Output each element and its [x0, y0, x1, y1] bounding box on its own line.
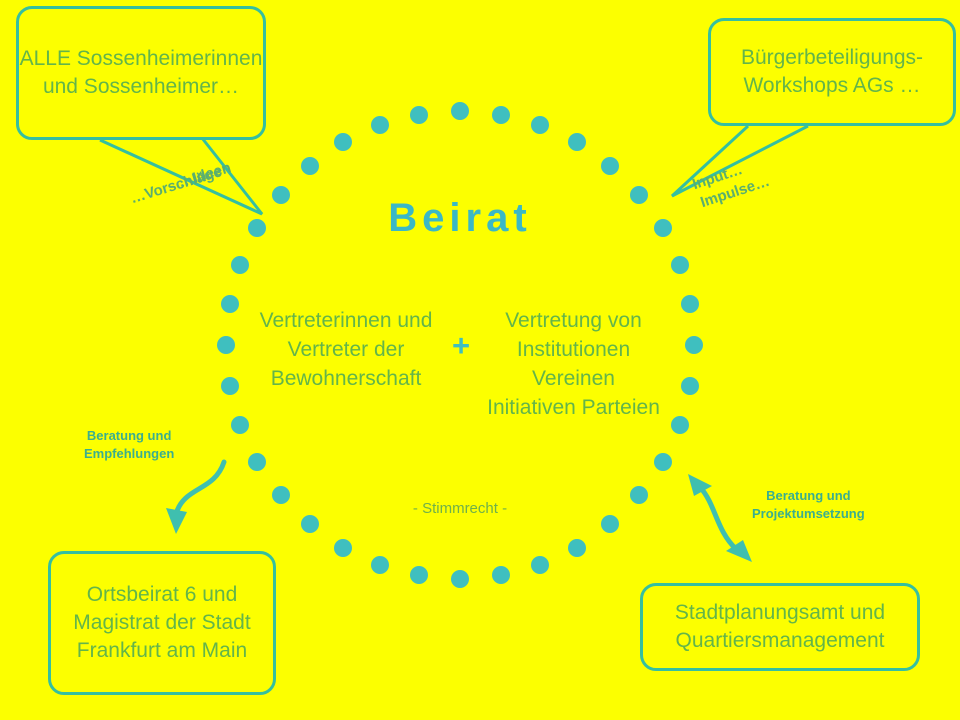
- ring-dot: [410, 566, 428, 584]
- ring-dot: [568, 133, 586, 151]
- label-vorschlaege: …Vorschläge: [128, 162, 224, 208]
- ring-dot: [568, 539, 586, 557]
- bubble-alle-sossenheimer-text: ALLE Sossenheimerinnen und Sossenheimer…: [19, 45, 263, 101]
- ring-dot: [681, 295, 699, 313]
- center-footnote: - Stimmrecht -: [340, 500, 580, 517]
- label-beratung-empfehlungen: Beratung und Empfehlungen: [84, 427, 174, 462]
- ring-dot: [217, 336, 235, 354]
- ring-dot: [231, 416, 249, 434]
- plus-icon: +: [443, 330, 479, 361]
- ring-dot: [221, 295, 239, 313]
- bubble-alle-sossenheimer[interactable]: ALLE Sossenheimerinnen und Sossenheimer…: [16, 6, 266, 140]
- label-beratung-projektumsetzung-line1: Beratung und: [752, 487, 865, 505]
- label-beratung-projektumsetzung-line2: Projektumsetzung: [752, 505, 865, 523]
- ring-dot: [334, 133, 352, 151]
- box-stadtplanungsamt-quartiersmanagement[interactable]: Stadtplanungsamt und Quartiersmanagement: [640, 583, 920, 671]
- ring-dot: [272, 486, 290, 504]
- ring-dot: [371, 116, 389, 134]
- arrow-beratung-projektumsetzung: [688, 474, 752, 562]
- ring-dot: [601, 515, 619, 533]
- ring-dot: [531, 556, 549, 574]
- ring-dot: [671, 416, 689, 434]
- box-ortsbeirat-magistrat[interactable]: Ortsbeirat 6 und Magistrat der Stadt Fra…: [48, 551, 276, 695]
- label-beratung-empfehlungen-line2: Empfehlungen: [84, 445, 174, 463]
- arrow-beratung-empfehlungen: [166, 462, 224, 534]
- ring-dot: [371, 556, 389, 574]
- page-title: Beirat: [260, 196, 660, 240]
- box-ortsbeirat-text: Ortsbeirat 6 und Magistrat der Stadt Fra…: [51, 581, 273, 665]
- center-column-right: Vertretung von Institutionen Vereinen In…: [486, 307, 661, 423]
- bubble-buergerbeteiligungs-workshops[interactable]: Bürgerbeteiligungs- Workshops AGs …: [708, 18, 956, 126]
- ring-dot: [301, 157, 319, 175]
- ring-dot: [601, 157, 619, 175]
- label-beratung-empfehlungen-line1: Beratung und: [84, 427, 174, 445]
- ring-dot: [492, 566, 510, 584]
- ring-dot: [334, 539, 352, 557]
- bubble-workshops-text: Bürgerbeteiligungs- Workshops AGs …: [711, 44, 953, 100]
- ring-dot: [231, 256, 249, 274]
- center-column-left: Vertreterinnen und Vertreter der Bewohne…: [256, 307, 436, 394]
- ring-dot: [410, 106, 428, 124]
- label-beratung-projektumsetzung: Beratung und Projektumsetzung: [752, 487, 865, 522]
- box-stadtplanung-text: Stadtplanungsamt und Quartiersmanagement: [643, 599, 917, 655]
- ring-dot: [248, 453, 266, 471]
- ring-dot: [654, 453, 672, 471]
- ring-dot: [492, 106, 510, 124]
- slide-canvas: ALLE Sossenheimerinnen und Sossenheimer……: [0, 0, 960, 720]
- ring-dot: [301, 515, 319, 533]
- ring-dot: [671, 256, 689, 274]
- ring-dot: [451, 102, 469, 120]
- ring-dot: [681, 377, 699, 395]
- ring-dot: [531, 116, 549, 134]
- ring-dot: [221, 377, 239, 395]
- ring-dot: [451, 570, 469, 588]
- ring-dot: [630, 486, 648, 504]
- ring-dot: [685, 336, 703, 354]
